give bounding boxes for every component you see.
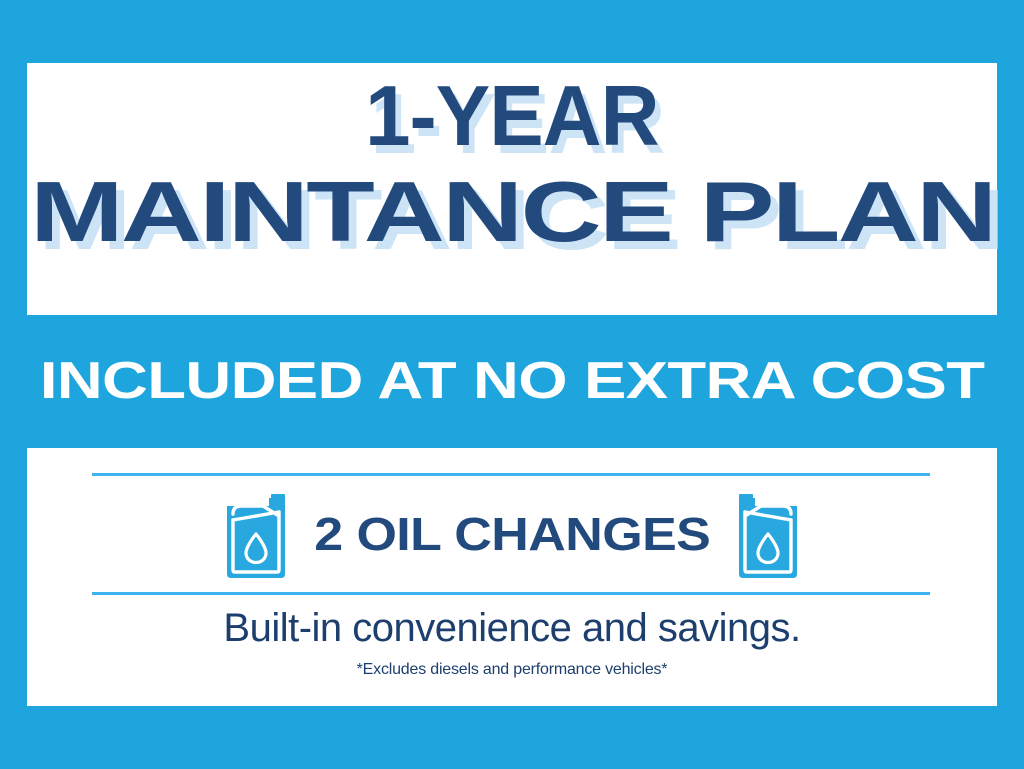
headline-panel: 1-YEAR MAINTANCE PLAN <box>27 63 997 315</box>
oil-jug-icon-right <box>733 490 801 578</box>
details-panel: 2 OIL CHANGES Built-in convenience and s… <box>27 448 997 706</box>
divider-top <box>92 473 930 476</box>
divider-bottom <box>92 592 930 595</box>
headline-line-2: MAINTANCE PLAN <box>30 173 994 253</box>
feature-label: 2 OIL CHANGES <box>314 507 710 561</box>
feature-row: 2 OIL CHANGES <box>27 481 997 586</box>
subtitle-text: INCLUDED AT NO EXTRA COST <box>40 351 985 411</box>
headline-line-1: 1-YEAR <box>365 77 659 157</box>
footnote-text: *Excludes diesels and performance vehicl… <box>27 661 997 679</box>
promo-poster: 1-YEAR MAINTANCE PLAN INCLUDED AT NO EXT… <box>0 0 1024 769</box>
oil-jug-icon-left <box>223 490 291 578</box>
tagline-text: Built-in convenience and savings. <box>27 606 997 651</box>
subtitle-band: INCLUDED AT NO EXTRA COST <box>0 322 1024 440</box>
